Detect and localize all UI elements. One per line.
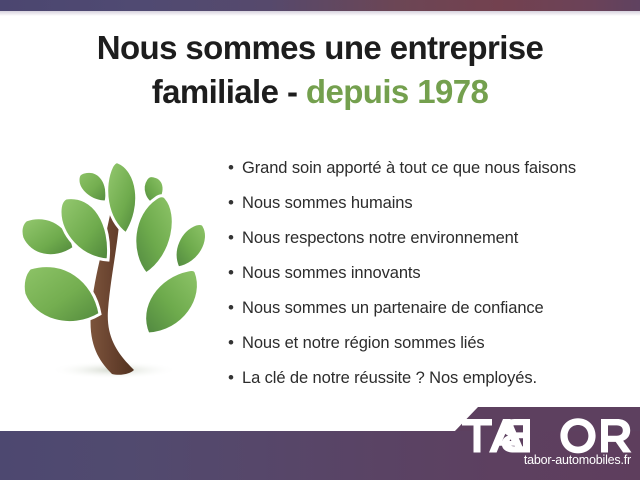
list-item-label: Nous sommes humains [242, 186, 413, 221]
headline-line-2-black: familiale - [152, 73, 306, 110]
list-item: • Grand soin apporté à tout ce que nous … [228, 150, 640, 185]
logo-tagline: tabor-automobiles.fr [462, 453, 634, 467]
list-item: • Nous sommes un partenaire de confiance [228, 290, 640, 325]
list-item: • La clé de notre réussite ? Nos employé… [228, 360, 640, 395]
headline-line-2-green: depuis 1978 [306, 73, 488, 110]
list-item-label: Nous respectons notre environnement [242, 221, 518, 256]
logo-wordmark-tabor [462, 417, 634, 455]
page-title: Nous sommes une entreprise familiale - d… [0, 26, 640, 114]
bullet-marker-icon: • [228, 150, 242, 185]
list-item: • Nous sommes innovants [228, 255, 640, 290]
top-accent-strip [0, 0, 640, 11]
list-item-label: Nous sommes innovants [242, 256, 421, 291]
bullet-marker-icon: • [228, 360, 242, 395]
bullet-marker-icon: • [228, 290, 242, 325]
bullet-marker-icon: • [228, 255, 242, 290]
headline-line-1: Nous sommes une entreprise [0, 26, 640, 70]
list-item: • Nous et notre région sommes liés [228, 325, 640, 360]
list-item: • Nous respectons notre environnement [228, 220, 640, 255]
list-item-label: La clé de notre réussite ? Nos employés. [242, 361, 537, 396]
list-item-label: Nous sommes un partenaire de confiance [242, 291, 544, 326]
headline-line-2: familiale - depuis 1978 [0, 70, 640, 114]
brand-logo[interactable]: tabor-automobiles.fr [462, 417, 634, 475]
list-item-label: Nous et notre région sommes liés [242, 326, 485, 361]
bullet-marker-icon: • [228, 220, 242, 255]
bullet-marker-icon: • [228, 185, 242, 220]
top-strip-fade [0, 11, 640, 16]
value-bullet-list: • Grand soin apporté à tout ce que nous … [228, 150, 640, 395]
family-tree-illustration [8, 148, 220, 396]
leaf-right-upper [135, 196, 173, 274]
leaf-right-mid [175, 223, 206, 268]
list-item: • Nous sommes humains [228, 185, 640, 220]
bullet-marker-icon: • [228, 325, 242, 360]
leaf-top-small [78, 171, 107, 202]
leaf-left-lower [23, 266, 100, 323]
leaf-right-lower [145, 269, 199, 334]
slide-canvas: Nous sommes une entreprise familiale - d… [0, 0, 640, 480]
list-item-label: Grand soin apporté à tout ce que nous fa… [242, 151, 576, 186]
